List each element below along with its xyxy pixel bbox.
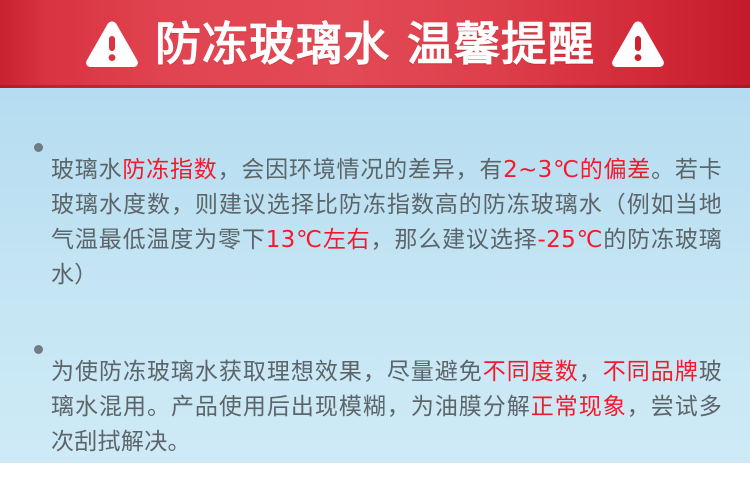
highlighted-text: 不同度数 (483, 359, 579, 385)
highlighted-text: 正常现象 (531, 394, 627, 420)
highlighted-text: -25℃ (538, 227, 604, 253)
highlighted-text: 防冻指数 (122, 157, 217, 183)
bullet-dot-icon (34, 345, 43, 354)
highlighted-text: 13℃左右 (266, 227, 371, 253)
notice-list: 玻璃水防冻指数，会因环境情况的差异，有2~3℃的偏差。若卡玻璃水度数，则建议选择… (0, 88, 750, 463)
banner-title: 防冻玻璃水 温馨提醒 (155, 21, 595, 67)
plain-text: 为使防冻玻璃水获取理想效果，尽量避免 (51, 359, 483, 385)
highlighted-text: 2~3℃的偏差 (503, 157, 651, 183)
plain-text: ，会因环境情况的差异，有 (218, 157, 504, 183)
warning-triangle-icon (611, 19, 665, 69)
plain-text: ， (579, 359, 603, 385)
plain-text: ，那么建议选择 (371, 227, 538, 253)
list-item: 玻璃水防冻指数，会因环境情况的差异，有2~3℃的偏差。若卡玻璃水度数，则建议选择… (34, 130, 722, 316)
header-banner: 防冻玻璃水 温馨提醒 (0, 0, 750, 88)
warning-triangle-icon (85, 19, 139, 69)
bullet-dot-icon (34, 143, 43, 152)
notice-text-1: 玻璃水防冻指数，会因环境情况的差异，有2~3℃的偏差。若卡玻璃水度数，则建议选择… (51, 153, 722, 293)
promo-notice-page: 防冻玻璃水 温馨提醒 玻璃水防冻指数，会因环境情况的差异，有2~3℃的偏差。若卡… (0, 0, 750, 463)
notice-text-2: 为使防冻玻璃水获取理想效果，尽量避免不同度数，不同品牌玻璃水混用。产品使用后出现… (51, 355, 722, 460)
highlighted-text: 不同品牌 (603, 359, 699, 385)
plain-text: 玻璃水 (51, 157, 122, 183)
banner-content: 防冻玻璃水 温馨提醒 (85, 19, 665, 69)
list-item: 为使防冻玻璃水获取理想效果，尽量避免不同度数，不同品牌玻璃水混用。产品使用后出现… (34, 332, 722, 483)
